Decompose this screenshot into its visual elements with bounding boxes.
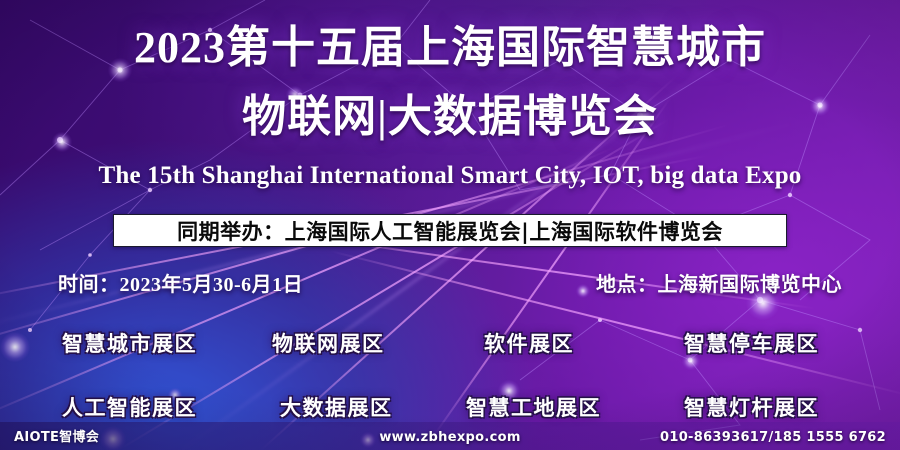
zone-label-big-data: 大数据展区 xyxy=(280,392,393,422)
concurrent-events-box: 同期举办：上海国际人工智能展览会|上海国际软件博览会 xyxy=(113,214,787,247)
zone-label-iot: 物联网展区 xyxy=(272,328,385,358)
zone-label-software: 软件展区 xyxy=(484,328,574,358)
banner-title-line-1: 2023第十五届上海国际智慧城市 xyxy=(0,26,900,70)
footer-brand-name: AIOTE智博会 xyxy=(14,426,99,445)
footer-phone-number: 010-86393617/185 1555 6762 xyxy=(660,430,886,445)
event-venue: 地点：上海新国际博览中心 xyxy=(596,268,842,297)
footer-bar: AIOTE智博会 www.zbhexpo.com 010-86393617/18… xyxy=(0,422,900,450)
zone-label-smart-parking: 智慧停车展区 xyxy=(684,328,819,358)
banner-title-line-2: 物联网|大数据博览会 xyxy=(0,95,900,139)
zone-label-smart-construction: 智慧工地展区 xyxy=(466,392,601,422)
zone-label-ai: 人工智能展区 xyxy=(62,392,197,422)
concurrent-events-text: 同期举办：上海国际人工智能展览会|上海国际软件博览会 xyxy=(177,216,723,246)
banner-subtitle-english: The 15th Shanghai International Smart Ci… xyxy=(0,162,900,190)
footer-website-url[interactable]: www.zbhexpo.com xyxy=(379,430,520,445)
zone-label-smart-city: 智慧城市展区 xyxy=(62,328,197,358)
zone-label-smart-lamppost: 智慧灯杆展区 xyxy=(684,392,819,422)
event-banner: 2023第十五届上海国际智慧城市 物联网|大数据博览会 The 15th Sha… xyxy=(0,0,900,450)
event-date: 时间：2023年5月30-6月1日 xyxy=(58,268,303,297)
